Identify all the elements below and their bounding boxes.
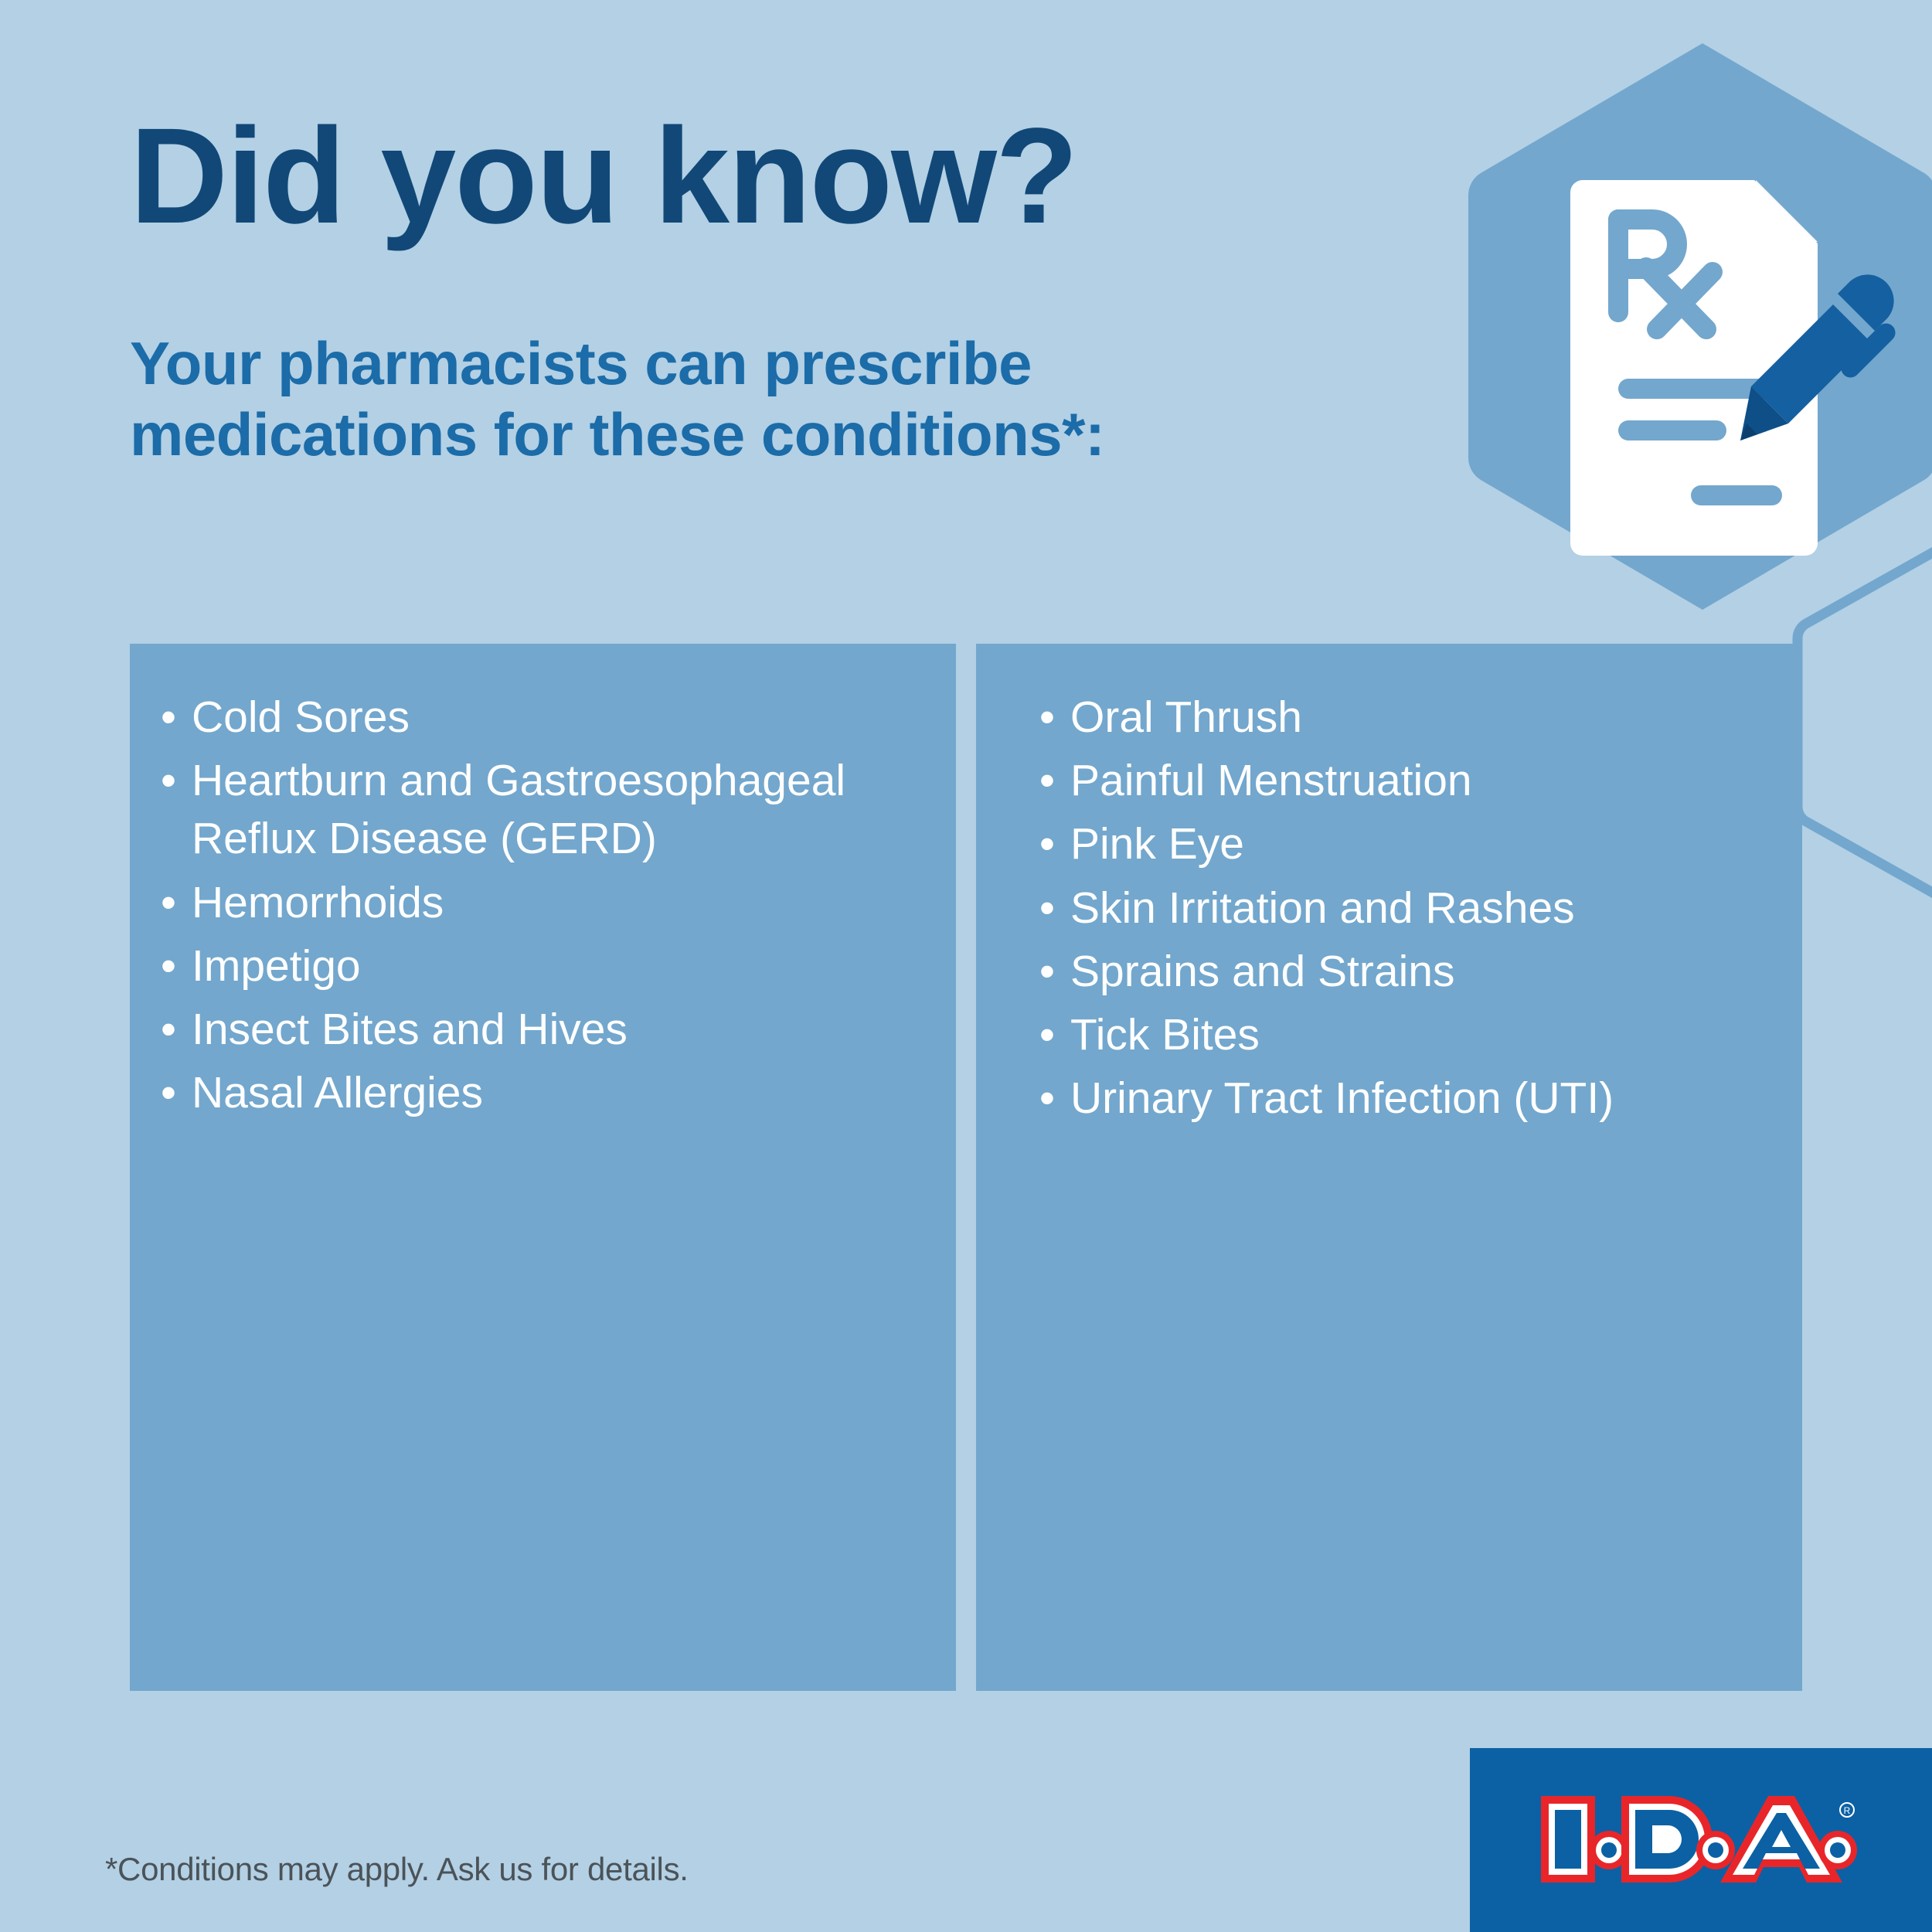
condition-item: •Heartburn and Gastroesophageal Reflux D…: [161, 752, 925, 868]
condition-label: Cold Sores: [192, 689, 925, 747]
conditions-panels: •Cold Sores•Heartburn and Gastroesophage…: [130, 644, 1802, 1691]
bullet-icon: •: [1039, 815, 1070, 873]
condition-item: •Cold Sores: [161, 689, 925, 747]
condition-item: •Insect Bites and Hives: [161, 1001, 925, 1059]
subtitle-line-2: medications for these conditions*:: [130, 399, 1366, 470]
svg-text:R: R: [1844, 1805, 1851, 1816]
bullet-icon: •: [1039, 689, 1070, 747]
condition-label: Heartburn and Gastroesophageal Reflux Di…: [192, 752, 925, 868]
page-title: Did you know?: [130, 108, 1366, 244]
bullet-icon: •: [161, 752, 192, 810]
hexagon-filled-shape: [1467, 39, 1932, 614]
page-subtitle: Your pharmacists can prescribe medicatio…: [130, 244, 1366, 470]
condition-label: Insect Bites and Hives: [192, 1001, 925, 1059]
condition-item: •Skin Irritation and Rashes: [1039, 879, 1771, 937]
conditions-panel-right: •Oral Thrush•Painful Menstruation•Pink E…: [976, 644, 1802, 1691]
condition-label: Urinary Tract Infection (UTI): [1070, 1070, 1771, 1128]
bullet-icon: •: [161, 1064, 192, 1122]
condition-item: •Impetigo: [161, 937, 925, 995]
condition-item: •Sprains and Strains: [1039, 943, 1771, 1001]
condition-label: Impetigo: [192, 937, 925, 995]
condition-label: Hemorrhoids: [192, 874, 925, 932]
condition-label: Skin Irritation and Rashes: [1070, 879, 1771, 937]
bullet-icon: •: [1039, 1070, 1070, 1128]
bullet-icon: •: [1039, 1006, 1070, 1064]
condition-label: Tick Bites: [1070, 1006, 1771, 1064]
condition-item: •Urinary Tract Infection (UTI): [1039, 1070, 1771, 1128]
bullet-icon: •: [1039, 879, 1070, 937]
condition-item: •Pink Eye: [1039, 815, 1771, 873]
condition-item: •Painful Menstruation: [1039, 752, 1771, 810]
bullet-icon: •: [161, 1001, 192, 1059]
bullet-icon: •: [161, 689, 192, 747]
condition-label: Sprains and Strains: [1070, 943, 1771, 1001]
conditions-panel-left: •Cold Sores•Heartburn and Gastroesophage…: [130, 644, 956, 1691]
subtitle-line-1: Your pharmacists can prescribe: [130, 328, 1366, 399]
condition-item: •Oral Thrush: [1039, 689, 1771, 747]
bullet-icon: •: [161, 937, 192, 995]
condition-label: Nasal Allergies: [192, 1064, 925, 1122]
condition-item: •Nasal Allergies: [161, 1064, 925, 1122]
hexagon-outline-shape: [1789, 537, 1932, 908]
bullet-icon: •: [1039, 752, 1070, 810]
conditions-list-right: •Oral Thrush•Painful Menstruation•Pink E…: [1039, 689, 1771, 1128]
condition-item: •Tick Bites: [1039, 1006, 1771, 1064]
pen-icon: [1740, 274, 1896, 440]
ida-logo-panel: R: [1470, 1748, 1932, 1932]
headline-block: Did you know? Your pharmacists can presc…: [130, 108, 1366, 470]
bullet-icon: •: [1039, 943, 1070, 1001]
condition-label: Painful Menstruation: [1070, 752, 1771, 810]
ida-logo: R: [1535, 1782, 1867, 1898]
condition-label: Oral Thrush: [1070, 689, 1771, 747]
bullet-icon: •: [161, 874, 192, 932]
conditions-list-left: •Cold Sores•Heartburn and Gastroesophage…: [161, 689, 925, 1123]
footnote-text: *Conditions may apply. Ask us for detail…: [105, 1851, 689, 1888]
registered-trademark-icon: R: [1840, 1803, 1854, 1817]
condition-item: •Hemorrhoids: [161, 874, 925, 932]
condition-label: Pink Eye: [1070, 815, 1771, 873]
prescription-document-pen-icon: [1570, 180, 1818, 556]
infographic-poster: Did you know? Your pharmacists can presc…: [0, 0, 1932, 1932]
